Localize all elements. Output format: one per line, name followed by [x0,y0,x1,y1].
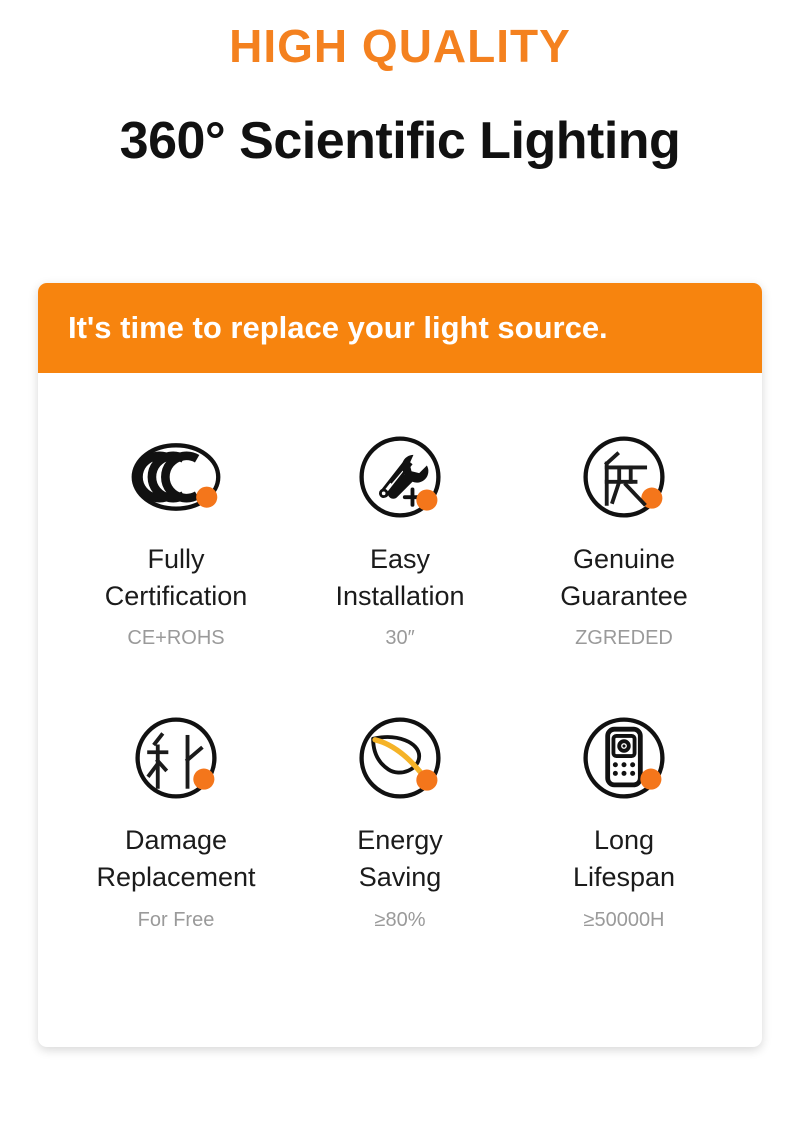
feature-title-line2: Saving [359,862,442,892]
feature-subtitle: ≥80% [374,908,425,932]
feature-title-line1: Energy [357,825,443,855]
page-title: 360° Scientific Lighting [0,113,800,170]
remote-control-icon [576,710,672,806]
feature-title-line2: Replacement [96,862,255,892]
features-card: It's time to replace your light source. … [38,283,762,1047]
ccc-certification-icon [128,429,224,525]
feature-subtitle: CE+ROHS [127,626,224,650]
feature-subtitle: 30″ [385,626,414,650]
feature-title-line1: Damage [125,825,227,855]
feature-title-line1: Fully [147,544,204,574]
feature-title: Easy Installation [335,541,464,614]
kicker-text: HIGH QUALITY [0,20,800,73]
card-banner: It's time to replace your light source. [38,283,762,373]
feature-title: Fully Certification [105,541,248,614]
feature-title-line2: Installation [335,581,464,611]
feature-item-energy-saving[interactable]: Energy Saving ≥80% [288,710,512,931]
feature-subtitle: ≥50000H [583,908,664,932]
feature-title-line2: Guarantee [560,581,688,611]
wrench-screwdriver-icon [352,429,448,525]
feature-title-line1: Easy [370,544,430,574]
feature-item-fully-certification[interactable]: Fully Certification CE+ROHS [64,429,288,650]
feature-title: Damage Replacement [96,822,255,895]
feature-item-genuine-guarantee[interactable]: Genuine Guarantee ZGREDED [512,429,736,650]
feature-title-line1: Genuine [573,544,675,574]
feature-title-line1: Long [594,825,654,855]
card-body: Fully Certification CE+ROHS [38,373,762,962]
feature-title-line2: Certification [105,581,248,611]
feature-subtitle: For Free [138,908,215,932]
feature-item-long-lifespan[interactable]: Long Lifespan ≥50000H [512,710,736,931]
quality-character-icon [576,429,672,525]
feature-title-line2: Lifespan [573,862,675,892]
page-header: HIGH QUALITY 360° Scientific Lighting [0,0,800,170]
feature-title: Energy Saving [357,822,443,895]
feature-item-damage-replacement[interactable]: Damage Replacement For Free [64,710,288,931]
leaf-icon [352,710,448,806]
replacement-character-icon [128,710,224,806]
feature-title: Genuine Guarantee [560,541,688,614]
feature-item-easy-installation[interactable]: Easy Installation 30″ [288,429,512,650]
feature-title: Long Lifespan [573,822,675,895]
feature-grid: Fully Certification CE+ROHS [64,429,736,932]
card-banner-text: It's time to replace your light source. [68,310,608,346]
feature-subtitle: ZGREDED [575,626,673,650]
